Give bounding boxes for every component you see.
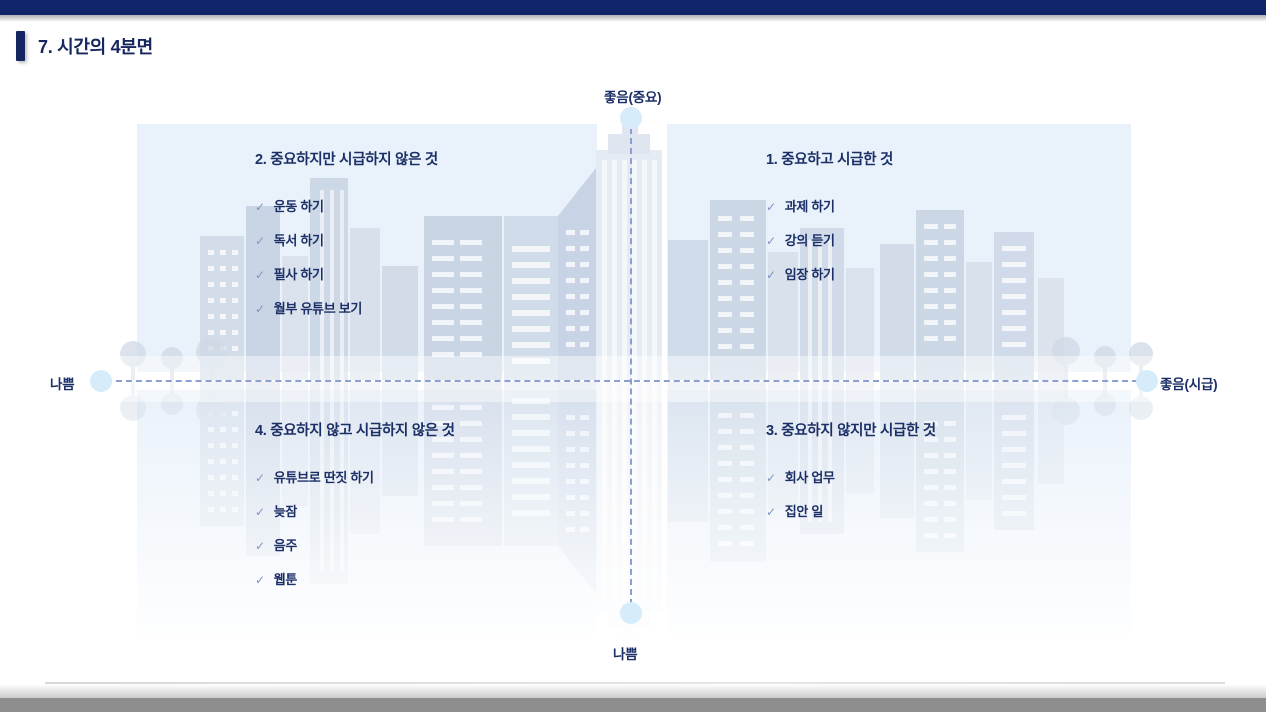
vertical-axis <box>630 118 632 615</box>
quadrant-3-title: 3. 중요하지 않지만 시급한 것 <box>766 419 936 440</box>
check-icon: ✓ <box>255 303 265 315</box>
list-item-label: 늦잠 <box>274 501 297 520</box>
quadrant-4-title: 4. 중요하지 않고 시급하지 않은 것 <box>255 419 455 440</box>
list-item-label: 운동 하기 <box>274 196 324 215</box>
check-icon: ✓ <box>255 574 265 586</box>
list-item-label: 임장 하기 <box>785 264 835 283</box>
check-icon: ✓ <box>255 201 265 213</box>
list-item-label: 독서 하기 <box>274 230 324 249</box>
check-icon: ✓ <box>255 506 265 518</box>
check-icon: ✓ <box>766 201 776 213</box>
axis-endpoint-dot-left <box>90 370 112 392</box>
quadrant-panel-1 <box>667 124 1131 372</box>
check-icon: ✓ <box>255 472 265 484</box>
quadrant-4-list: ✓유튜브로 딴짓 하기 ✓늦잠 ✓음주 ✓웹툰 <box>255 467 455 588</box>
quadrant-chart: 좋음(중요) 나쁨 나쁨 좋음(시급) 2. 중요하지만 시급하지 않은 것 ✓… <box>0 0 1266 712</box>
list-item: ✓과제 하기 <box>766 196 893 215</box>
quadrant-2: 2. 중요하지만 시급하지 않은 것 ✓운동 하기 ✓독서 하기 ✓필사 하기 … <box>255 148 438 332</box>
list-item: ✓운동 하기 <box>255 196 438 215</box>
check-icon: ✓ <box>766 235 776 247</box>
axis-label-left: 나쁨 <box>50 373 74 393</box>
list-item: ✓강의 듣기 <box>766 230 893 249</box>
quadrant-1-list: ✓과제 하기 ✓강의 듣기 ✓임장 하기 <box>766 196 893 283</box>
list-item-label: 강의 듣기 <box>785 230 835 249</box>
check-icon: ✓ <box>255 235 265 247</box>
list-item: ✓독서 하기 <box>255 230 438 249</box>
quadrant-4: 4. 중요하지 않고 시급하지 않은 것 ✓유튜브로 딴짓 하기 ✓늦잠 ✓음주… <box>255 419 455 603</box>
list-item: ✓월부 유튜브 보기 <box>255 298 438 317</box>
axis-endpoint-dot-right <box>1136 370 1158 392</box>
list-item: ✓유튜브로 딴짓 하기 <box>255 467 455 486</box>
list-item-label: 회사 업무 <box>785 467 835 486</box>
axis-label-right: 좋음(시급) <box>1160 373 1217 393</box>
quadrant-2-list: ✓운동 하기 ✓독서 하기 ✓필사 하기 ✓월부 유튜브 보기 <box>255 196 438 317</box>
list-item: ✓임장 하기 <box>766 264 893 283</box>
quadrant-3: 3. 중요하지 않지만 시급한 것 ✓회사 업무 ✓집안 일 <box>766 419 936 535</box>
check-icon: ✓ <box>766 472 776 484</box>
quadrant-1: 1. 중요하고 시급한 것 ✓과제 하기 ✓강의 듣기 ✓임장 하기 <box>766 148 893 298</box>
list-item-label: 필사 하기 <box>274 264 324 283</box>
horizontal-axis <box>106 380 1148 382</box>
list-item-label: 웹툰 <box>274 569 297 588</box>
list-item-label: 과제 하기 <box>785 196 835 215</box>
axis-label-top: 좋음(중요) <box>604 86 661 106</box>
list-item: ✓웹툰 <box>255 569 455 588</box>
list-item-label: 집안 일 <box>785 501 823 520</box>
list-item-label: 유튜브로 딴짓 하기 <box>274 467 374 486</box>
list-item: ✓늦잠 <box>255 501 455 520</box>
check-icon: ✓ <box>255 269 265 281</box>
list-item-label: 월부 유튜브 보기 <box>274 298 362 317</box>
axis-endpoint-dot-top <box>620 107 642 129</box>
axis-endpoint-dot-bottom <box>620 602 642 624</box>
list-item: ✓필사 하기 <box>255 264 438 283</box>
check-icon: ✓ <box>766 269 776 281</box>
check-icon: ✓ <box>255 540 265 552</box>
list-item: ✓음주 <box>255 535 455 554</box>
axis-label-bottom: 나쁨 <box>613 643 637 663</box>
quadrant-1-title: 1. 중요하고 시급한 것 <box>766 148 893 169</box>
quadrant-3-list: ✓회사 업무 ✓집안 일 <box>766 467 936 520</box>
list-item-label: 음주 <box>274 535 297 554</box>
list-item: ✓회사 업무 <box>766 467 936 486</box>
list-item: ✓집안 일 <box>766 501 936 520</box>
quadrant-2-title: 2. 중요하지만 시급하지 않은 것 <box>255 148 438 169</box>
check-icon: ✓ <box>766 506 776 518</box>
